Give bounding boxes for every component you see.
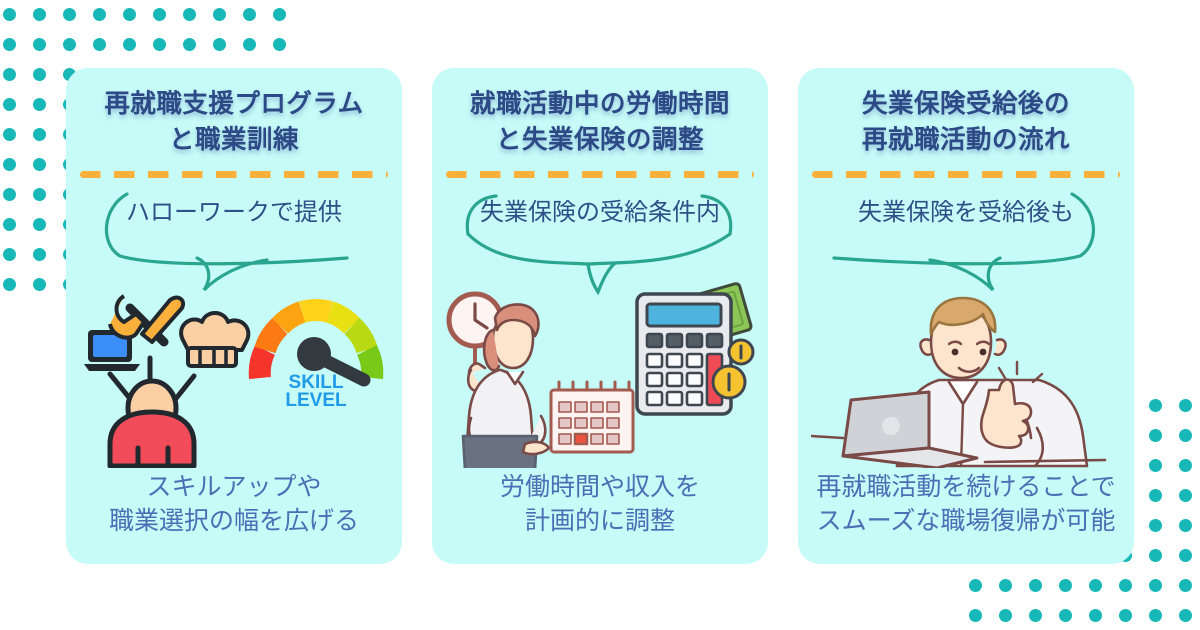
decor-dot (33, 128, 46, 141)
decor-dot (1029, 609, 1042, 622)
decor-dot (1149, 609, 1162, 622)
decor-dot (3, 68, 16, 81)
decor-dot (1149, 489, 1162, 502)
card-working-hours-insurance[interactable]: 就職活動中の労働時間 と失業保険の調整 失業保険の受給条件内 (432, 68, 768, 564)
decor-dot (33, 218, 46, 231)
decor-dot (1119, 609, 1132, 622)
card-footer-text: 労働時間や収入を 計画的に調整 (440, 470, 760, 538)
dashed-divider (812, 171, 1120, 178)
decor-dot (33, 248, 46, 261)
infographic-canvas: 再就職支援プログラム と職業訓練 ハローワークで提供 (0, 0, 1200, 630)
decor-dot (1059, 579, 1072, 592)
decor-dot (969, 609, 982, 622)
dashed-divider (80, 171, 388, 178)
decor-dot (243, 8, 256, 21)
calendar-icon (551, 382, 633, 452)
skill-level-gauge: SKILL LEVEL (260, 310, 373, 411)
decor-dot (1089, 609, 1102, 622)
dashed-divider (446, 171, 754, 178)
decor-dot (153, 38, 166, 51)
decor-dot (33, 278, 46, 291)
decor-dot (33, 98, 46, 111)
decor-dot (1179, 399, 1192, 412)
decor-dot (1179, 609, 1192, 622)
decor-dot (3, 248, 16, 261)
decor-dot (1149, 459, 1162, 472)
decor-dot (1179, 489, 1192, 502)
decor-dot (273, 8, 286, 21)
decor-dot (1029, 579, 1042, 592)
decor-dot (1179, 549, 1192, 562)
decor-dot (213, 8, 226, 21)
decor-dot (3, 128, 16, 141)
illustration-man-thumbs-up (798, 278, 1134, 478)
decor-dot (63, 8, 76, 21)
card-title: 失業保険受給後の 再就職活動の流れ (798, 86, 1134, 158)
speech-bubble-text: 失業保険の受給条件内 (438, 198, 762, 228)
decor-dot (1089, 579, 1102, 592)
decor-dot (33, 188, 46, 201)
decor-dot (1179, 519, 1192, 532)
decor-dot (3, 188, 16, 201)
decor-dot (3, 8, 16, 21)
decor-dot (1059, 609, 1072, 622)
decor-dot (3, 278, 16, 291)
decor-dot (1119, 579, 1132, 592)
calculator-icon (637, 294, 731, 414)
tools-icon (110, 296, 183, 342)
decor-dot (1149, 549, 1162, 562)
card-title: 再就職支援プログラム と職業訓練 (66, 86, 402, 158)
decor-dot (93, 38, 106, 51)
chef-hat-icon (181, 313, 248, 366)
decor-dot (243, 38, 256, 51)
decor-dot (153, 8, 166, 21)
decor-dot (969, 579, 982, 592)
decor-dot (1149, 429, 1162, 442)
decor-dot (63, 38, 76, 51)
decor-dot (123, 38, 136, 51)
decor-dot (3, 38, 16, 51)
decor-dot (1179, 429, 1192, 442)
gauge-label-line2: LEVEL (285, 390, 347, 411)
decor-dot (273, 38, 286, 51)
decor-dot (213, 38, 226, 51)
decor-dot (33, 68, 46, 81)
card-footer-text: スキルアップや 職業選択の幅を広げる (74, 470, 394, 538)
speech-bubble-text: ハローワークで提供 (72, 198, 396, 228)
decor-dot (1149, 519, 1162, 532)
decor-dot (93, 8, 106, 21)
decor-dot (33, 158, 46, 171)
card-reemployment-program[interactable]: 再就職支援プログラム と職業訓練 ハローワークで提供 (66, 68, 402, 564)
decor-dot (183, 38, 196, 51)
decor-dot (33, 8, 46, 21)
decor-dot (999, 609, 1012, 622)
card-post-insurance-flow[interactable]: 失業保険受給後の 再就職活動の流れ 失業保険を受給後も (798, 68, 1134, 564)
card-title: 就職活動中の労働時間 と失業保険の調整 (432, 86, 768, 158)
illustration-time-and-money: 100 (432, 278, 768, 478)
decor-dot (3, 98, 16, 111)
decor-dot (1149, 579, 1162, 592)
decor-dot (183, 8, 196, 21)
decor-dot (123, 8, 136, 21)
decor-dot (1179, 459, 1192, 472)
decor-dot (1179, 579, 1192, 592)
speech-bubble-text: 失業保険を受給後も (804, 198, 1128, 228)
card-footer-text: 再就職活動を続けることで スムーズな職場復帰が可能 (806, 470, 1126, 538)
decor-dot (33, 38, 46, 51)
decor-dot (3, 218, 16, 231)
decor-dot (1149, 399, 1162, 412)
decor-dot (3, 158, 16, 171)
illustration-skill-gauge: SKILL LEVEL (66, 278, 402, 478)
decor-dot (999, 579, 1012, 592)
